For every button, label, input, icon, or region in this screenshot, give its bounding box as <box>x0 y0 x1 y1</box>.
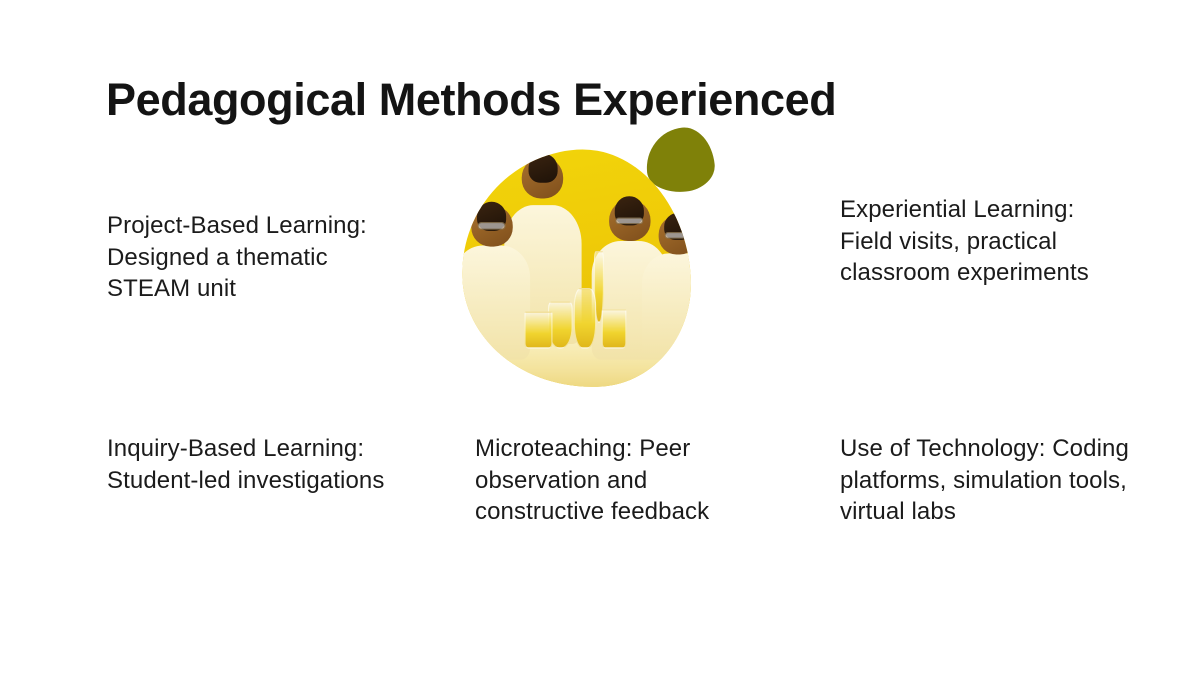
method-inquiry-based-learning: Inquiry-Based Learning: Student-led inve… <box>107 433 417 496</box>
method-microteaching: Microteaching: Peer observation and cons… <box>475 433 775 528</box>
lab-coat <box>642 253 698 360</box>
method-use-of-technology: Use of Technology: Coding platforms, sim… <box>840 433 1130 528</box>
beaker <box>525 312 553 349</box>
method-experiential-learning: Experiential Learning: Field visits, pra… <box>840 194 1130 289</box>
slide-canvas: Pedagogical Methods Experienced <box>0 0 1200 675</box>
lab-coat <box>454 245 530 359</box>
lab-photo-container <box>462 150 690 388</box>
student-head <box>471 205 512 246</box>
lab-photo-blob <box>454 142 698 395</box>
safety-goggles <box>665 232 691 239</box>
student-figure <box>454 205 530 360</box>
method-project-based-learning: Project-Based Learning: Designed a thema… <box>107 210 407 305</box>
flask <box>573 288 596 349</box>
student-head <box>522 157 563 198</box>
lab-scene-illustration <box>454 142 698 395</box>
safety-goggles <box>616 217 644 225</box>
student-figure <box>642 216 698 360</box>
beaker <box>602 309 627 349</box>
lab-photo-image <box>454 142 698 395</box>
safety-goggles <box>478 222 506 230</box>
student-hair <box>528 154 557 183</box>
student-head <box>659 216 698 255</box>
page-title: Pedagogical Methods Experienced <box>106 72 1006 128</box>
